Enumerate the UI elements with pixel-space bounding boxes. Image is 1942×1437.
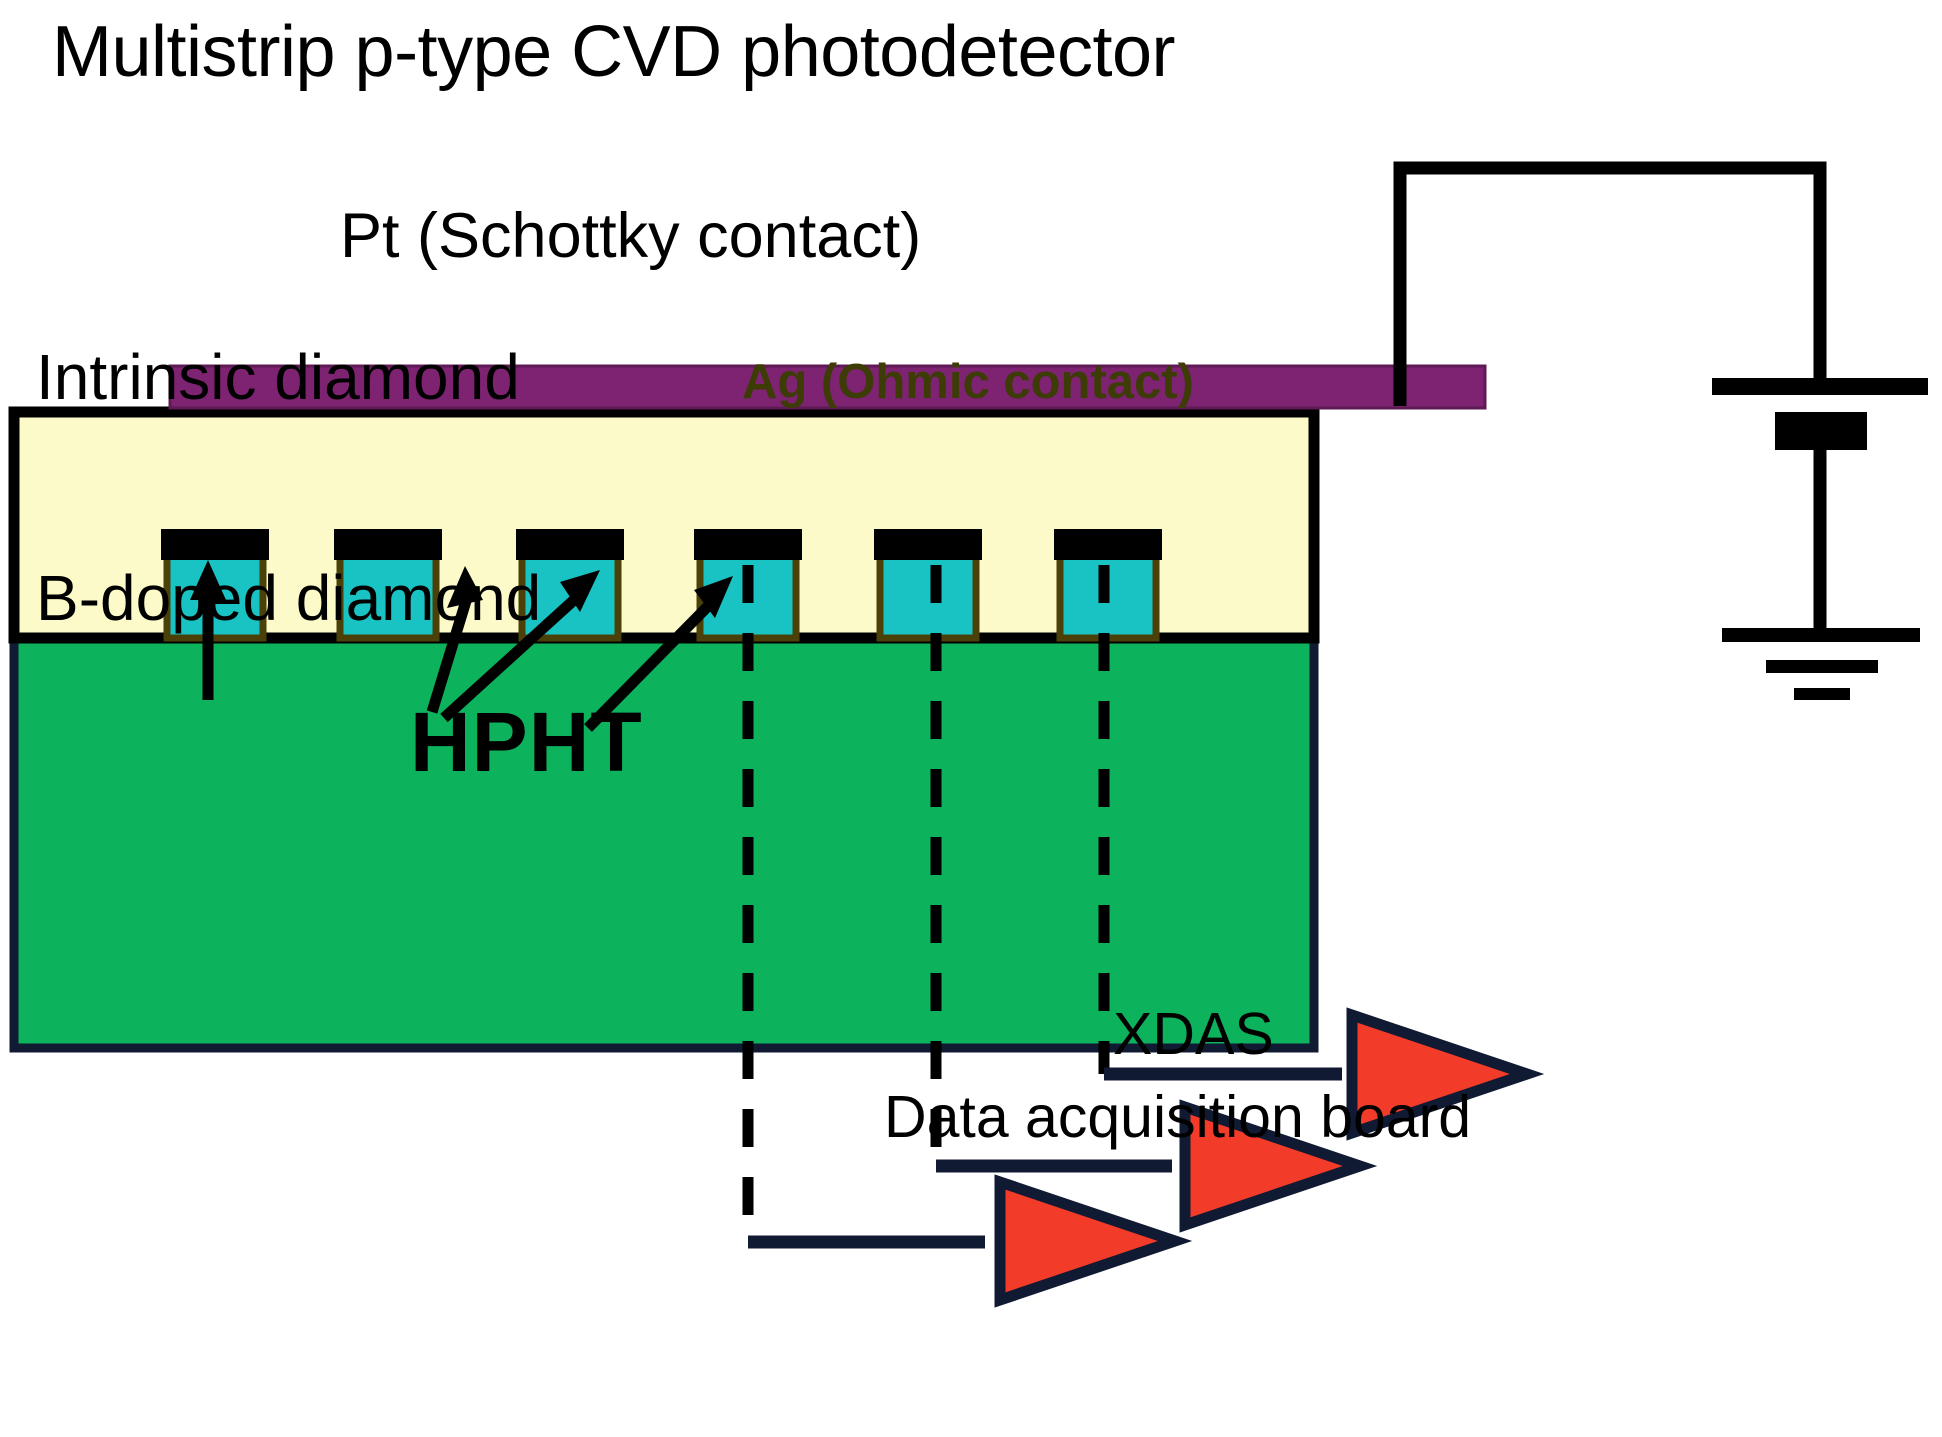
battery-negative-plate <box>1775 412 1867 450</box>
amplifier-triangle-1 <box>1000 1182 1175 1300</box>
ag-ohmic-contact-label: Ag (Ohmic contact) <box>742 358 1194 407</box>
ag-ohmic-contact-cap-5 <box>874 529 982 560</box>
b-doped-diamond-strip-5 <box>880 553 976 638</box>
data-acquisition-board-label: Data acquisition board <box>884 1088 1471 1147</box>
ag-ohmic-contact-cap-3 <box>516 529 624 560</box>
ground-bar-2 <box>1766 660 1878 673</box>
battery-symbol <box>1712 378 1928 450</box>
figure-canvas: Multistrip p-type CVD photodetector Pt (… <box>0 0 1942 1437</box>
ground-bar-1 <box>1722 628 1920 642</box>
b-doped-diamond-label: B-doped diamond <box>36 566 541 630</box>
ground-bar-3 <box>1794 688 1850 700</box>
hpht-substrate-label: HPHT <box>410 700 643 784</box>
ground-symbol <box>1722 628 1920 700</box>
strip-group-5 <box>874 529 982 638</box>
battery-positive-plate <box>1712 378 1928 395</box>
ag-ohmic-contact-cap-1 <box>161 529 269 560</box>
ag-ohmic-contact-cap-2 <box>334 529 442 560</box>
ag-ohmic-contact-cap-4 <box>694 529 802 560</box>
pt-schottky-contact-label: Pt (Schottky contact) <box>340 205 921 268</box>
intrinsic-diamond-label: Intrinsic diamond <box>36 345 520 409</box>
diagram-svg <box>0 0 1942 1437</box>
xdas-label: XDAS <box>1113 1005 1274 1064</box>
page-title: Multistrip p-type CVD photodetector <box>52 16 1175 88</box>
ag-ohmic-contact-cap-6 <box>1054 529 1162 560</box>
